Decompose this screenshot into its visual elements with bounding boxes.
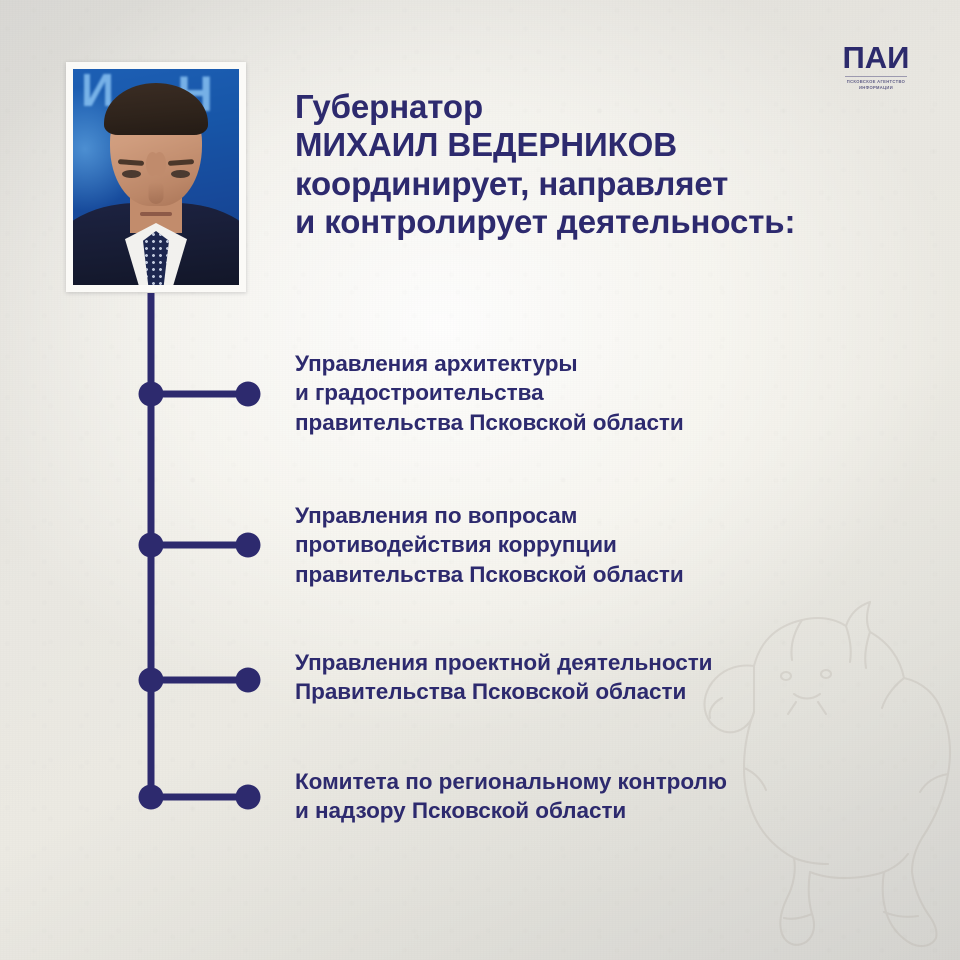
list-item: Управления проектной деятельности Правит… — [295, 648, 712, 707]
heading-line-3: координирует, направляет — [295, 165, 895, 203]
list-item-line: Правительства Псковской области — [295, 677, 712, 706]
heading-line-1: Губернатор — [295, 88, 895, 126]
list-item-line: Управления архитектуры — [295, 349, 684, 378]
connector-node-branch-1 — [236, 382, 261, 407]
pai-logo-mark: ПАИ — [816, 42, 936, 73]
list-item: Комитета по региональному контролю и над… — [295, 767, 727, 826]
list-item-line: противодействия коррупции — [295, 530, 684, 559]
list-item-line: Управления проектной деятельности — [295, 648, 712, 677]
poster-heading: Губернатор МИХАИЛ ВЕДЕРНИКОВ координируе… — [295, 88, 895, 241]
heading-line-2: МИХАИЛ ВЕДЕРНИКОВ — [295, 126, 895, 164]
list-item: Управления архитектуры и градостроительс… — [295, 349, 684, 437]
governor-portrait-photo: И Н — [73, 69, 239, 285]
logo-divider — [845, 76, 907, 77]
connector-node-branch-3 — [236, 668, 261, 693]
ear-right-shape — [153, 152, 166, 176]
pai-logo[interactable]: ПАИ Псковское агентство информации — [816, 42, 936, 91]
list-item-line: правительства Псковской области — [295, 408, 684, 437]
list-item-line: и градостроительства — [295, 378, 684, 407]
connector-node-branch-2 — [236, 533, 261, 558]
eyebrow-left-shape — [168, 159, 194, 166]
connector-node-trunk-4 — [139, 785, 164, 810]
leopard-watermark-icon — [636, 570, 960, 960]
connector-node-trunk-2 — [139, 533, 164, 558]
infographic-poster: И Н ПАИ Псковское агентство — [0, 0, 960, 960]
list-item-line: правительства Псковской области — [295, 560, 684, 589]
nose-shape — [149, 182, 164, 204]
eye-right-shape — [122, 170, 141, 178]
heading-line-4: и контролирует деятельность: — [295, 203, 895, 241]
mouth-shape — [140, 212, 172, 216]
list-item: Управления по вопросам противодействия к… — [295, 501, 684, 589]
list-item-line: и надзору Псковской области — [295, 796, 727, 825]
connector-node-trunk-1 — [139, 382, 164, 407]
governor-portrait-frame: И Н — [66, 62, 246, 292]
eye-left-shape — [171, 170, 190, 178]
eyebrow-right-shape — [118, 159, 144, 166]
list-item-line: Управления по вопросам — [295, 501, 684, 530]
connector-node-branch-4 — [236, 785, 261, 810]
list-item-line: Комитета по региональному контролю — [295, 767, 727, 796]
connector-node-trunk-3 — [139, 668, 164, 693]
